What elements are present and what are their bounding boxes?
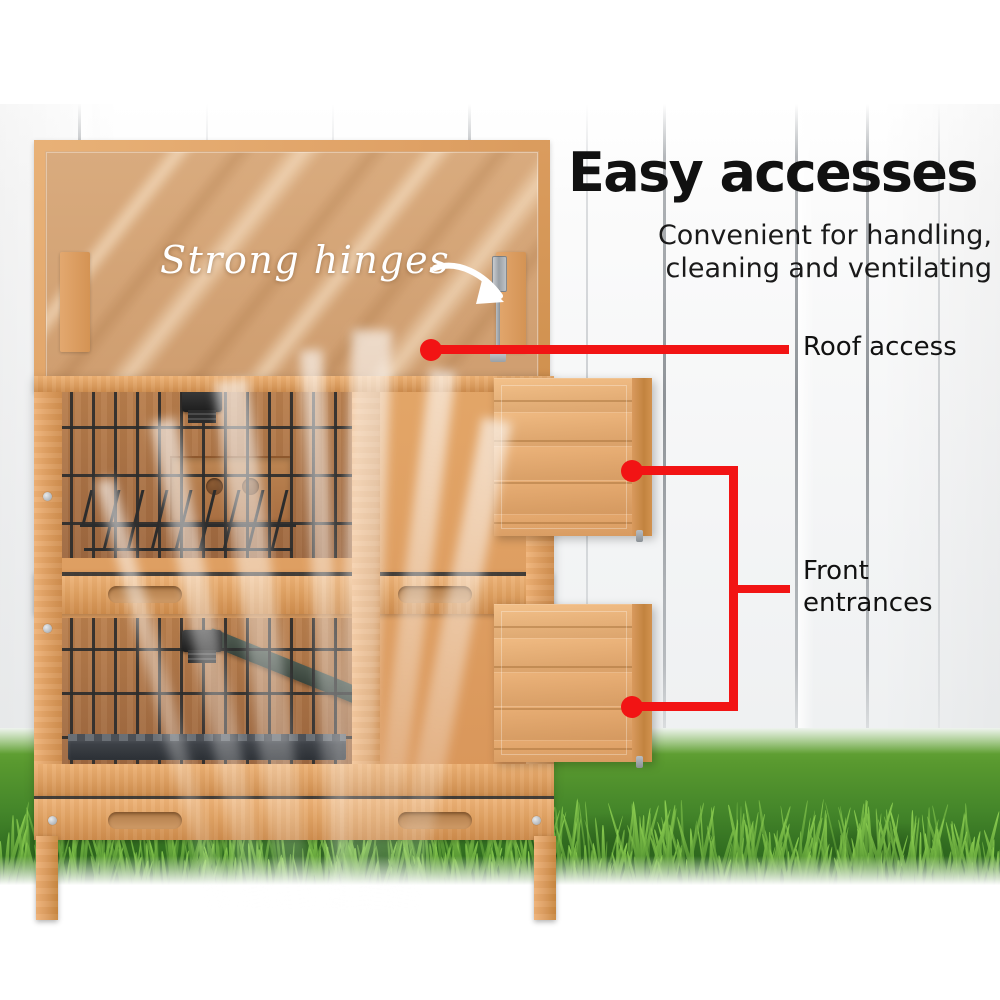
bottom-pull-out-tray[interactable] [68,734,346,760]
product-feature-image: Easy accesses Convenient for handling, c… [0,0,1000,1000]
hutch-body [34,376,554,796]
subtitle-line-1: Convenient for handling, [568,220,992,253]
subtitle-line-2: cleaning and ventilating [568,253,992,286]
roof-lid-tab-left [60,252,90,352]
upper-wire-cage [62,390,352,558]
screw [43,492,52,501]
lower-front-door[interactable] [494,604,652,762]
callout-bracket-spine [729,466,738,711]
callout-line-lower [632,702,738,711]
base-handle-right[interactable] [398,812,472,829]
callout-label-roof-access: Roof access [803,332,957,364]
bottom-white-band [0,886,1000,1000]
upper-door-pin [636,530,643,542]
lower-door-pin [636,756,643,768]
callout-line-stub [738,585,790,593]
handwritten-note: Strong hinges [160,238,450,282]
upper-door-edge [632,378,652,536]
tray-handle-right[interactable] [398,586,472,603]
callout-label-line-1: Front [803,556,933,588]
callout-label-front-entrances: Front entrances [803,556,933,619]
leg-left [36,836,58,920]
upper-cage-latch[interactable] [182,390,222,412]
lower-cage-latch[interactable] [182,630,222,652]
screw [532,816,541,825]
subtitle: Convenient for handling, cleaning and ve… [568,220,992,286]
middle-slide-out-tray[interactable] [34,572,554,614]
screw [48,816,57,825]
upper-front-door[interactable] [494,378,652,536]
hay-feeder-rack [80,490,296,552]
page-title: Easy accesses [568,146,992,200]
top-white-band [0,0,1000,112]
base-skirt [34,796,554,840]
tray-handle-left[interactable] [108,586,182,603]
callout-label-line-2: entrances [803,588,933,620]
callout-line-upper [632,466,738,475]
callout-line-roof-access [431,345,789,354]
frame-post-center [352,376,380,796]
screw [43,624,52,633]
lower-wire-cage [62,618,352,764]
lower-door-edge [632,604,652,762]
curved-arrow-icon [432,256,522,318]
frame-rail-top [34,376,554,392]
base-handle-left[interactable] [108,812,182,829]
frame-post-left [34,376,62,796]
frame-rail-bottom [34,764,554,796]
leg-right [534,836,556,920]
rabbit-hutch-product [0,120,600,880]
